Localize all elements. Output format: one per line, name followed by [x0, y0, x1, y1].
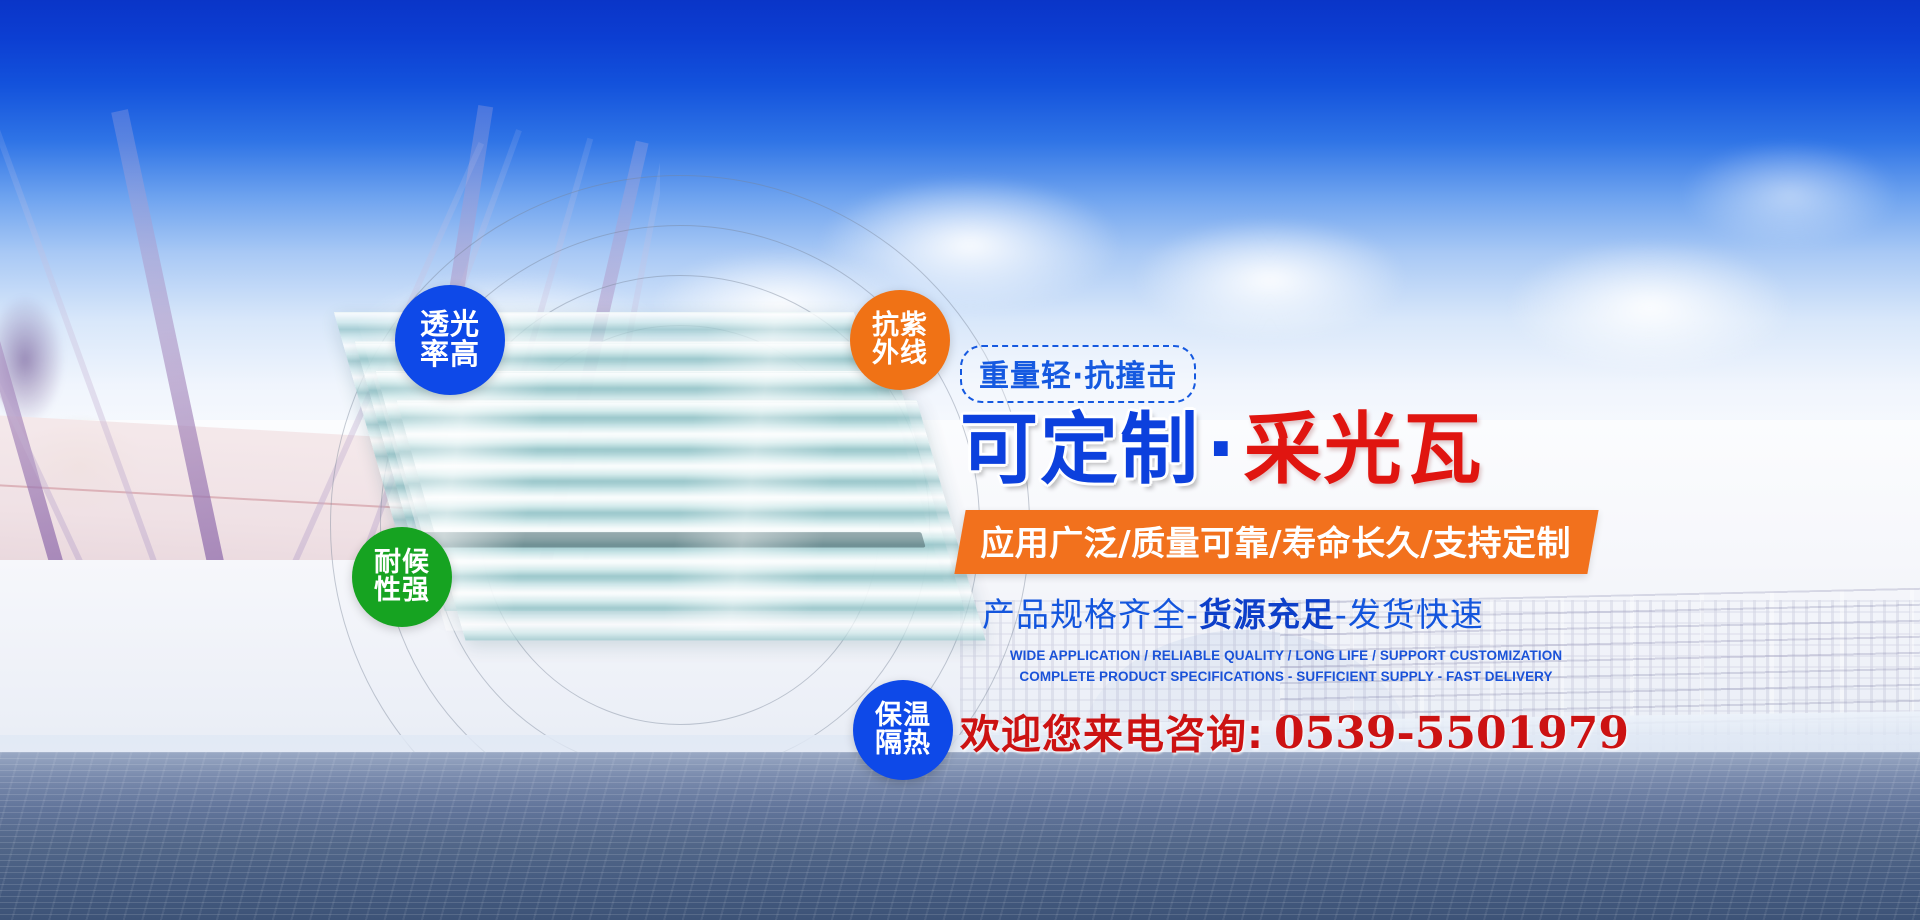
badge-line-1: 保温 — [875, 702, 931, 730]
tagline-pill: 重量轻·抗撞击 — [960, 345, 1196, 403]
phone-label: 欢迎您来电咨询: — [960, 712, 1264, 758]
feature-badge-weather-resistance[interactable]: 耐候 性强 — [352, 527, 452, 627]
badge-line-2: 率高 — [420, 340, 480, 370]
sea-water — [0, 752, 1920, 920]
feature-list-text: 应用广泛/质量可靠/寿命长久/支持定制 — [980, 516, 1571, 565]
badge-line-2: 外线 — [872, 340, 928, 368]
phone-number: 0539-5501979 — [1274, 708, 1629, 759]
badge-line-2: 性强 — [374, 577, 430, 605]
supply-subline: 产品规格齐全-货源充足-发货快速 — [982, 588, 1680, 636]
english-line-2: COMPLETE PRODUCT SPECIFICATIONS - SUFFIC… — [986, 667, 1586, 688]
feature-list-bar: 应用广泛/质量可靠/寿命长久/支持定制 — [954, 510, 1598, 574]
contact-phone[interactable]: 欢迎您来电咨询:0539-5501979 — [960, 702, 1680, 760]
english-line-1: WIDE APPLICATION / RELIABLE QUALITY / LO… — [986, 646, 1586, 667]
page-title: 可定制·采光瓦 — [960, 409, 1680, 492]
corrugated-sheet — [397, 400, 986, 640]
feature-badge-uv-resistance[interactable]: 抗紫 外线 — [850, 290, 950, 390]
badge-line-1: 抗紫 — [872, 312, 928, 340]
headline-separator: · — [1200, 405, 1244, 495]
badge-line-1: 耐候 — [374, 549, 430, 577]
badge-line-1: 透光 — [420, 310, 480, 340]
feature-badge-thermal-insulation[interactable]: 保温 隔热 — [853, 680, 953, 780]
subline-prefix: 产品规格齐全- — [982, 595, 1199, 634]
feature-badge-translucency[interactable]: 透光 率高 — [395, 285, 505, 395]
headline-red-text: 采光瓦 — [1244, 405, 1484, 495]
badge-line-2: 隔热 — [875, 730, 931, 758]
marketing-copy-block: 重量轻·抗撞击 可定制·采光瓦 应用广泛/质量可靠/寿命长久/支持定制 产品规格… — [960, 345, 1680, 760]
english-subtitle: WIDE APPLICATION / RELIABLE QUALITY / LO… — [986, 646, 1586, 688]
subline-strong: 货源充足 — [1199, 595, 1335, 634]
sheet-edge — [401, 532, 926, 547]
subline-suffix: -发货快速 — [1335, 595, 1484, 634]
promo-banner: 透光 率高 抗紫 外线 耐候 性强 保温 隔热 重量轻·抗撞击 可定制·采光瓦 … — [0, 0, 1920, 920]
cloud-shape — [1080, 195, 1460, 365]
headline-blue-text: 可定制 — [960, 405, 1200, 495]
cloud-shape — [1640, 120, 1920, 270]
